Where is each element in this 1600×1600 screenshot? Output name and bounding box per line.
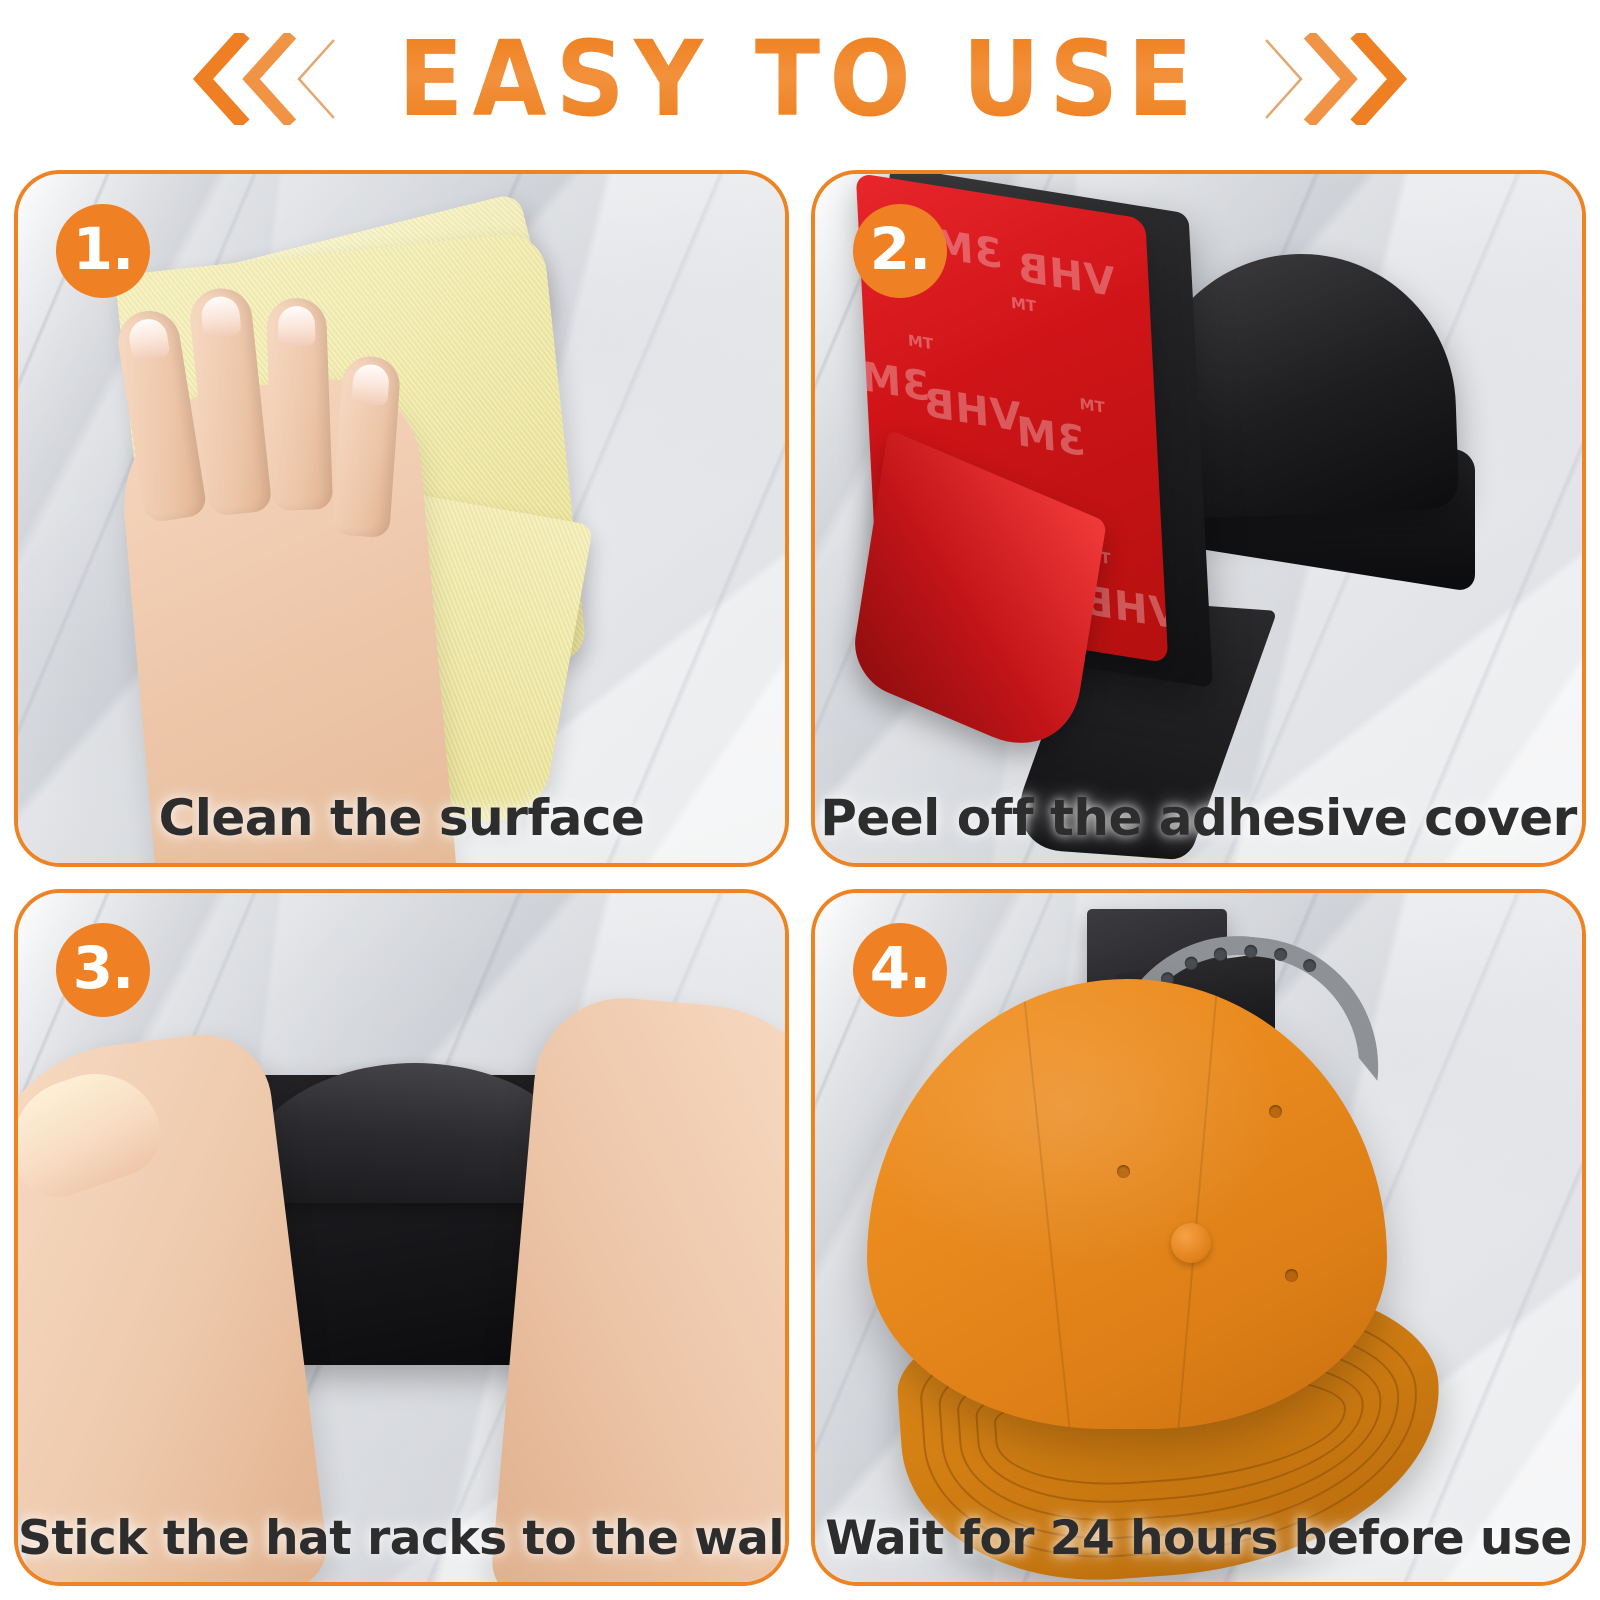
step-caption-2: Peel off the adhesive cover	[815, 789, 1582, 847]
thumbnail	[14, 1056, 172, 1209]
step-card-3[interactable]: 3. Stick the hat racks to the wall	[14, 889, 789, 1586]
fingernail	[351, 363, 390, 405]
step-number-badge-3: 3.	[56, 923, 150, 1017]
fingernail	[277, 305, 316, 346]
tape-brand-label: 3M	[1014, 408, 1086, 466]
header-banner: EASY TO USE	[0, 0, 1600, 158]
right-thumb	[489, 991, 789, 1586]
step-card-1[interactable]: 1. Clean the surface	[14, 170, 789, 867]
double-chevron-right-icon	[1263, 33, 1413, 125]
finger-pinky	[331, 355, 401, 539]
tape-brand-label: 3M	[859, 353, 931, 411]
step-number-badge-2: 2.	[853, 204, 947, 298]
cap-top-button	[1171, 1223, 1211, 1263]
step-caption-1: Clean the surface	[18, 789, 785, 847]
step-number-badge-4: 4.	[853, 923, 947, 1017]
step-caption-3: Stick the hat racks to the wall	[18, 1511, 785, 1566]
step-number-badge-1: 1.	[56, 204, 150, 298]
tape-tm-mark: TM	[1079, 395, 1105, 417]
double-chevron-left-icon	[187, 33, 337, 125]
fingernail	[200, 295, 242, 339]
step-card-4[interactable]: 4. Wait for 24 hours before use	[811, 889, 1586, 1586]
infographic-page: EASY TO USE	[0, 0, 1600, 1600]
tape-tm-mark: TM	[907, 331, 933, 353]
tape-tm-mark: TM	[1011, 294, 1037, 316]
finger-ring	[266, 297, 333, 511]
step-card-2[interactable]: 3M VHB TM TM VHB 3M TM 3M 3M TM VHB 2. P…	[811, 170, 1586, 867]
page-title: EASY TO USE	[398, 27, 1202, 131]
tape-type-label: VHB	[922, 380, 1022, 442]
steps-grid: 1. Clean the surface 3M VHB TM TM VHB 3M…	[14, 170, 1586, 1586]
fingernail	[127, 316, 171, 362]
step-caption-4: Wait for 24 hours before use	[815, 1511, 1582, 1566]
